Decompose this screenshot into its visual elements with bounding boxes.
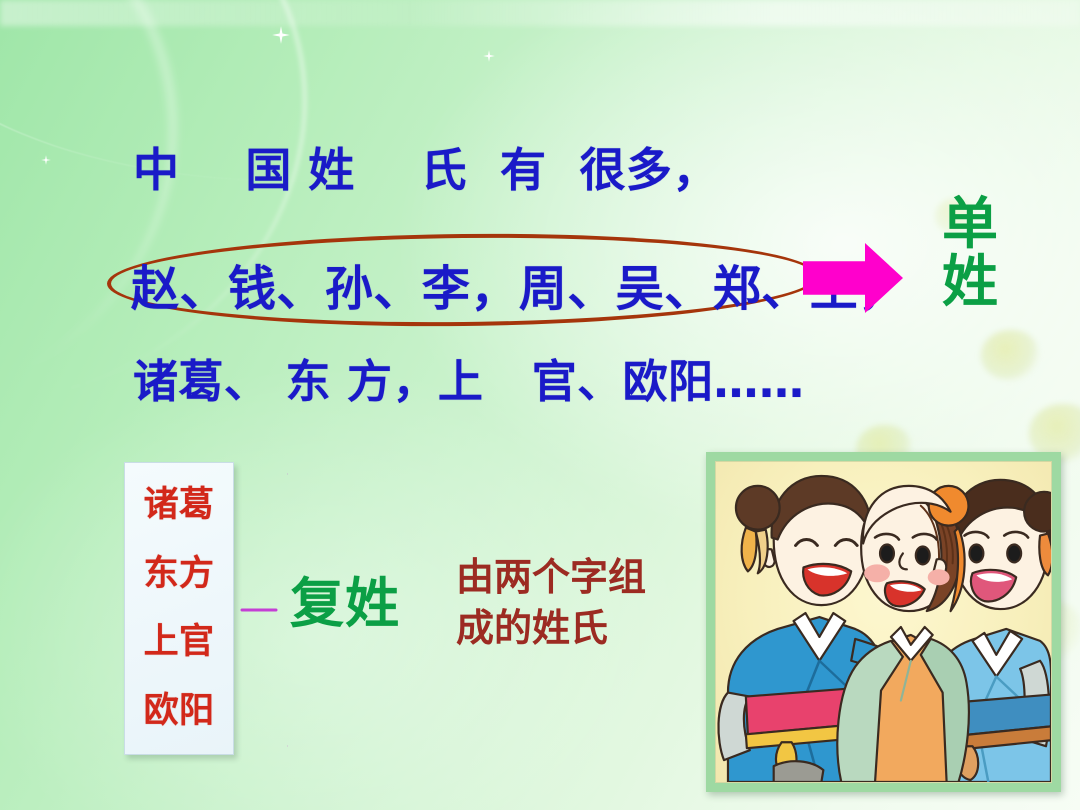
compound-surname-item: 上官 (144, 625, 215, 660)
compound-surname-label: 复姓 (290, 559, 400, 638)
single-surname-label: 单 姓 (932, 196, 1008, 311)
compound-surname-card: 诸葛 东方 上官 欧阳 (124, 462, 234, 755)
slide-canvas: 中 国 姓 氏 有 很多， 赵、钱、孙、李，周、吴、郑、王， 诸葛、 东 方，上… (0, 0, 1080, 810)
compound-surname-examples-line: 诸葛、 东 方，上 官、欧阳…… (133, 345, 804, 410)
single-surname-label-char-2: 姓 (932, 254, 1008, 312)
children-illustration (706, 452, 1061, 792)
definition-line-1: 由两个字组 (456, 552, 686, 603)
compound-surname-item: 诸葛 (144, 488, 215, 523)
curly-brace-icon (240, 470, 288, 750)
single-surname-label-char-1: 单 (932, 196, 1008, 254)
definition-line-2: 成的姓氏 (456, 603, 686, 654)
compound-surname-definition: 由两个字组 成的姓氏 (456, 552, 686, 654)
illustration-canvas (715, 461, 1052, 783)
compound-surname-item: 欧阳 (144, 694, 215, 729)
compound-surname-item: 东方 (144, 557, 215, 592)
single-surname-examples-line: 赵、钱、孙、李，周、吴、郑、王， (131, 249, 907, 319)
intro-line: 中 国 姓 氏 有 很多， (133, 134, 719, 200)
